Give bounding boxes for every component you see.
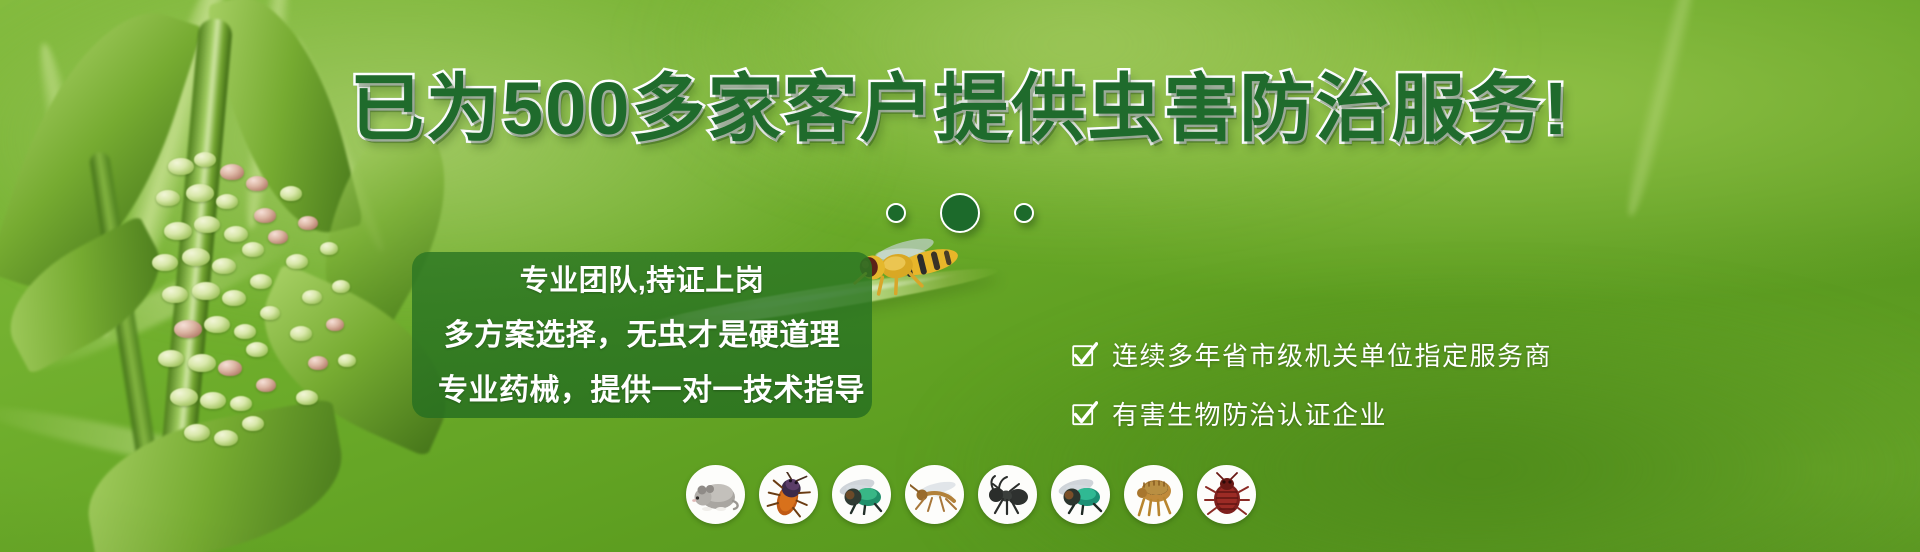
headline-text: 已为500多家客户提供虫害防治服务! [350, 67, 1570, 150]
credentials-checklist: 连续多年省市级机关单位指定服务商 有害生物防治认证企业 [1072, 336, 1552, 432]
flower-bud [204, 316, 230, 333]
pest-control-hero-banner: 已为500多家客户提供虫害防治服务! 专业团队,持证上岗 多方案选择，无虫才是硬… [0, 0, 1920, 552]
flower-bud [296, 390, 318, 405]
credential-label: 有害生物防治认证企业 [1112, 395, 1387, 432]
flower-bud [246, 342, 268, 357]
flower-bud-pink [308, 356, 328, 370]
mosquito-icon[interactable] [905, 465, 964, 524]
pest-type-icon-strip [686, 465, 1256, 524]
flower-bud [320, 242, 338, 255]
flower-bud [242, 416, 264, 431]
flower-bud [200, 392, 226, 409]
dot-small-left [886, 203, 906, 223]
flower-bud [158, 350, 184, 367]
rodent-icon[interactable] [686, 465, 745, 524]
flower-bud [332, 280, 350, 293]
flower-bud [162, 286, 188, 303]
flower-bud [192, 282, 220, 300]
checkbox-checked-icon [1072, 342, 1098, 368]
flower-bud [338, 354, 356, 367]
flower-bud [194, 152, 216, 167]
selling-point-line-2: 多方案选择，无虫才是硬道理 [438, 320, 846, 352]
flower-bud [152, 254, 178, 271]
flower-bud-pink [246, 176, 268, 191]
selling-point-line-3: 专业药械，提供一对一技术指导 [438, 375, 846, 407]
cockroach-icon[interactable] [759, 465, 818, 524]
flower-bud-pink [256, 378, 276, 392]
flower-bud [302, 290, 322, 304]
flower-bud-pink [220, 164, 244, 180]
flower-bud [182, 248, 210, 266]
flower-bud [230, 396, 252, 411]
flower-bud [214, 430, 238, 446]
selling-point-line-1: 专业团队,持证上岗 [438, 266, 846, 296]
flower-bud [260, 306, 280, 320]
decorative-dots [0, 193, 1920, 233]
flower-bud [170, 388, 198, 406]
bedbug-icon[interactable] [1197, 465, 1256, 524]
ant-icon[interactable] [978, 465, 1037, 524]
blowfly-icon[interactable] [1051, 465, 1110, 524]
flower-bud [222, 290, 246, 306]
flower-bud-pink [218, 360, 242, 376]
fly-icon[interactable] [832, 465, 891, 524]
flower-bud [184, 424, 210, 441]
flower-bud-pink [174, 320, 202, 338]
flower-bud [212, 258, 236, 274]
flower-bud [188, 354, 216, 372]
flower-bud [242, 242, 264, 257]
flower-bud [234, 324, 256, 339]
credential-label: 连续多年省市级机关单位指定服务商 [1112, 336, 1552, 373]
flea-icon[interactable] [1124, 465, 1183, 524]
flower-bud [250, 274, 272, 289]
dot-small-right [1014, 203, 1034, 223]
dot-large-center [940, 193, 980, 233]
headline: 已为500多家客户提供虫害防治服务! [0, 72, 1920, 146]
flower-bud [286, 254, 308, 269]
flower-bud [290, 326, 312, 341]
list-item: 有害生物防治认证企业 [1072, 395, 1552, 432]
flower-bud [168, 158, 194, 175]
checkbox-checked-icon [1072, 401, 1098, 427]
list-item: 连续多年省市级机关单位指定服务商 [1072, 336, 1552, 373]
selling-points-panel: 专业团队,持证上岗 多方案选择，无虫才是硬道理 专业药械，提供一对一技术指导 [412, 252, 872, 418]
flower-bud-pink [326, 318, 344, 331]
